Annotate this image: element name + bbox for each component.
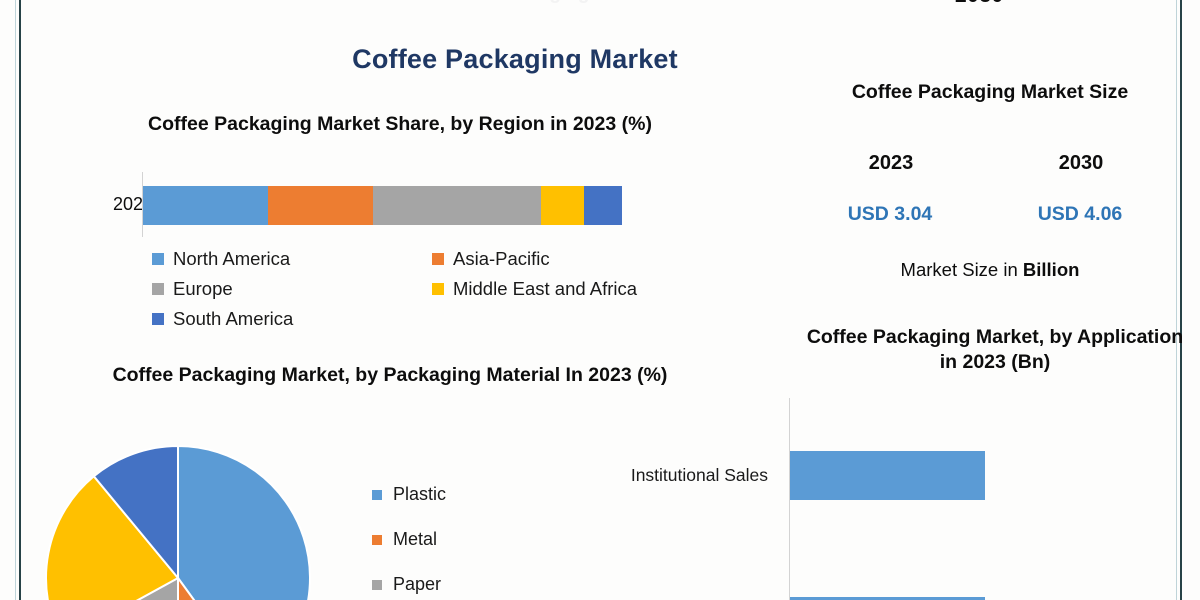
legend-swatch-icon: [152, 283, 164, 295]
application-bar-chart: Institutional Sales: [600, 398, 1180, 600]
application-category-label: Institutional Sales: [631, 465, 768, 486]
material-legend-label: Metal: [393, 529, 437, 550]
region-legend-label: North America: [173, 248, 290, 270]
market-size-title: Coffee Packaging Market Size: [820, 80, 1160, 105]
region-legend-label: Europe: [173, 278, 233, 300]
market-size-value-from: USD 3.04: [825, 203, 955, 226]
infographic-canvas: Coffee Packaging Market 2030 Coffee Pack…: [0, 0, 1200, 600]
market-size-year-to: 2030: [1026, 152, 1136, 175]
application-chart-title: Coffee Packaging Market, by Application …: [800, 325, 1190, 375]
market-size-unit-note: Market Size in Billion: [840, 259, 1140, 281]
region-category-label: 2023: [73, 194, 153, 215]
legend-swatch-icon: [152, 313, 164, 325]
region-legend: North AmericaAsia-PacificEuropeMiddle Ea…: [152, 248, 712, 330]
market-size-unit-bold: Billion: [1023, 259, 1080, 280]
cut-off-top-title: Coffee Packaging Market: [430, 0, 656, 5]
legend-swatch-icon: [372, 490, 382, 500]
region-segment: [268, 186, 373, 225]
frame-left-dark-rule: [19, 0, 21, 600]
material-pie-chart: [38, 438, 318, 600]
material-legend-label: Paper: [393, 574, 441, 595]
material-legend: PlasticMetalPaper: [372, 472, 446, 600]
material-legend-label: Plastic: [393, 484, 446, 505]
region-legend-label: Asia-Pacific: [453, 248, 550, 270]
legend-swatch-icon: [372, 535, 382, 545]
region-segment: [541, 186, 584, 225]
region-legend-item[interactable]: North America: [152, 248, 432, 270]
region-legend-label: South America: [173, 308, 293, 330]
region-stacked-bar: [143, 186, 622, 225]
material-pie-svg: [38, 438, 318, 600]
market-size-year-from: 2023: [836, 152, 946, 175]
region-segment: [373, 186, 541, 225]
cut-off-top-year: 2030: [955, 0, 1004, 8]
legend-swatch-icon: [432, 283, 444, 295]
region-legend-item[interactable]: Middle East and Africa: [432, 278, 712, 300]
application-bar: [790, 451, 985, 500]
region-segment: [584, 186, 622, 225]
material-legend-item[interactable]: Plastic: [372, 472, 446, 517]
material-legend-item[interactable]: Paper: [372, 562, 446, 600]
legend-swatch-icon: [432, 253, 444, 265]
region-stacked-bar-chart: 2023: [40, 172, 680, 237]
region-segment: [143, 186, 268, 225]
pie-slice: [178, 446, 310, 600]
region-legend-label: Middle East and Africa: [453, 278, 637, 300]
market-size-unit-prefix: Market Size in: [901, 259, 1023, 280]
region-legend-item[interactable]: Europe: [152, 278, 432, 300]
region-legend-item[interactable]: South America: [152, 308, 432, 330]
frame-right-dark-rule: [1180, 0, 1182, 600]
legend-swatch-icon: [372, 580, 382, 590]
material-chart-title: Coffee Packaging Market, by Packaging Ma…: [60, 363, 720, 388]
region-legend-item[interactable]: Asia-Pacific: [432, 248, 712, 270]
region-chart-title: Coffee Packaging Market Share, by Region…: [105, 112, 695, 137]
market-size-value-to: USD 4.06: [1015, 203, 1145, 226]
material-legend-item[interactable]: Metal: [372, 517, 446, 562]
legend-swatch-icon: [152, 253, 164, 265]
frame-left-light-rule: [15, 0, 16, 600]
page-title: Coffee Packaging Market: [0, 44, 1030, 75]
